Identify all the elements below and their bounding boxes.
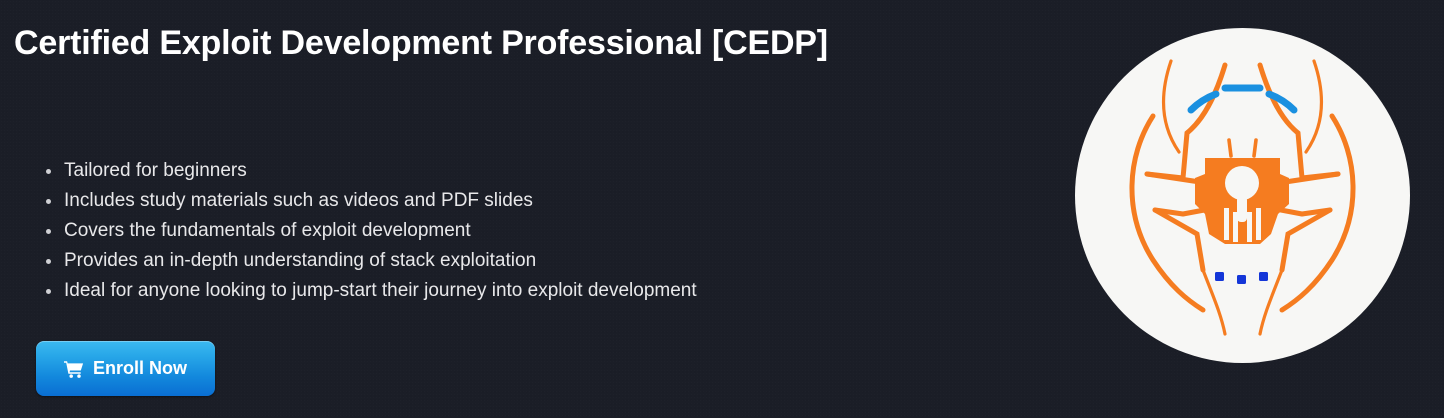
bullet-icon — [46, 289, 51, 294]
list-item-label: Includes study materials such as videos … — [64, 190, 533, 211]
list-item: Covers the fundamentals of exploit devel… — [40, 216, 697, 246]
list-item: Includes study materials such as videos … — [40, 186, 697, 216]
bullet-icon — [46, 169, 51, 174]
list-item: Ideal for anyone looking to jump-start t… — [40, 276, 697, 306]
bullet-icon — [46, 229, 51, 234]
enroll-now-label: Enroll Now — [93, 358, 187, 379]
course-banner: Certified Exploit Development Profession… — [0, 0, 1444, 418]
list-item-label: Ideal for anyone looking to jump-start t… — [64, 280, 697, 301]
feature-list: Tailored for beginners Includes study ma… — [40, 156, 697, 306]
list-item-label: Provides an in-depth understanding of st… — [64, 250, 536, 271]
page-title: Certified Exploit Development Profession… — [14, 24, 828, 63]
list-item-label: Tailored for beginners — [64, 160, 247, 181]
enroll-now-button[interactable]: Enroll Now — [36, 341, 215, 396]
bullet-icon — [46, 259, 51, 264]
list-item: Tailored for beginners — [40, 156, 697, 186]
shopping-cart-icon — [64, 360, 84, 378]
list-item: Provides an in-depth understanding of st… — [40, 246, 697, 276]
accent-dashes-bottom — [1215, 272, 1268, 284]
spider-logo — [1075, 28, 1410, 363]
list-item-label: Covers the fundamentals of exploit devel… — [64, 220, 471, 241]
bullet-icon — [46, 199, 51, 204]
